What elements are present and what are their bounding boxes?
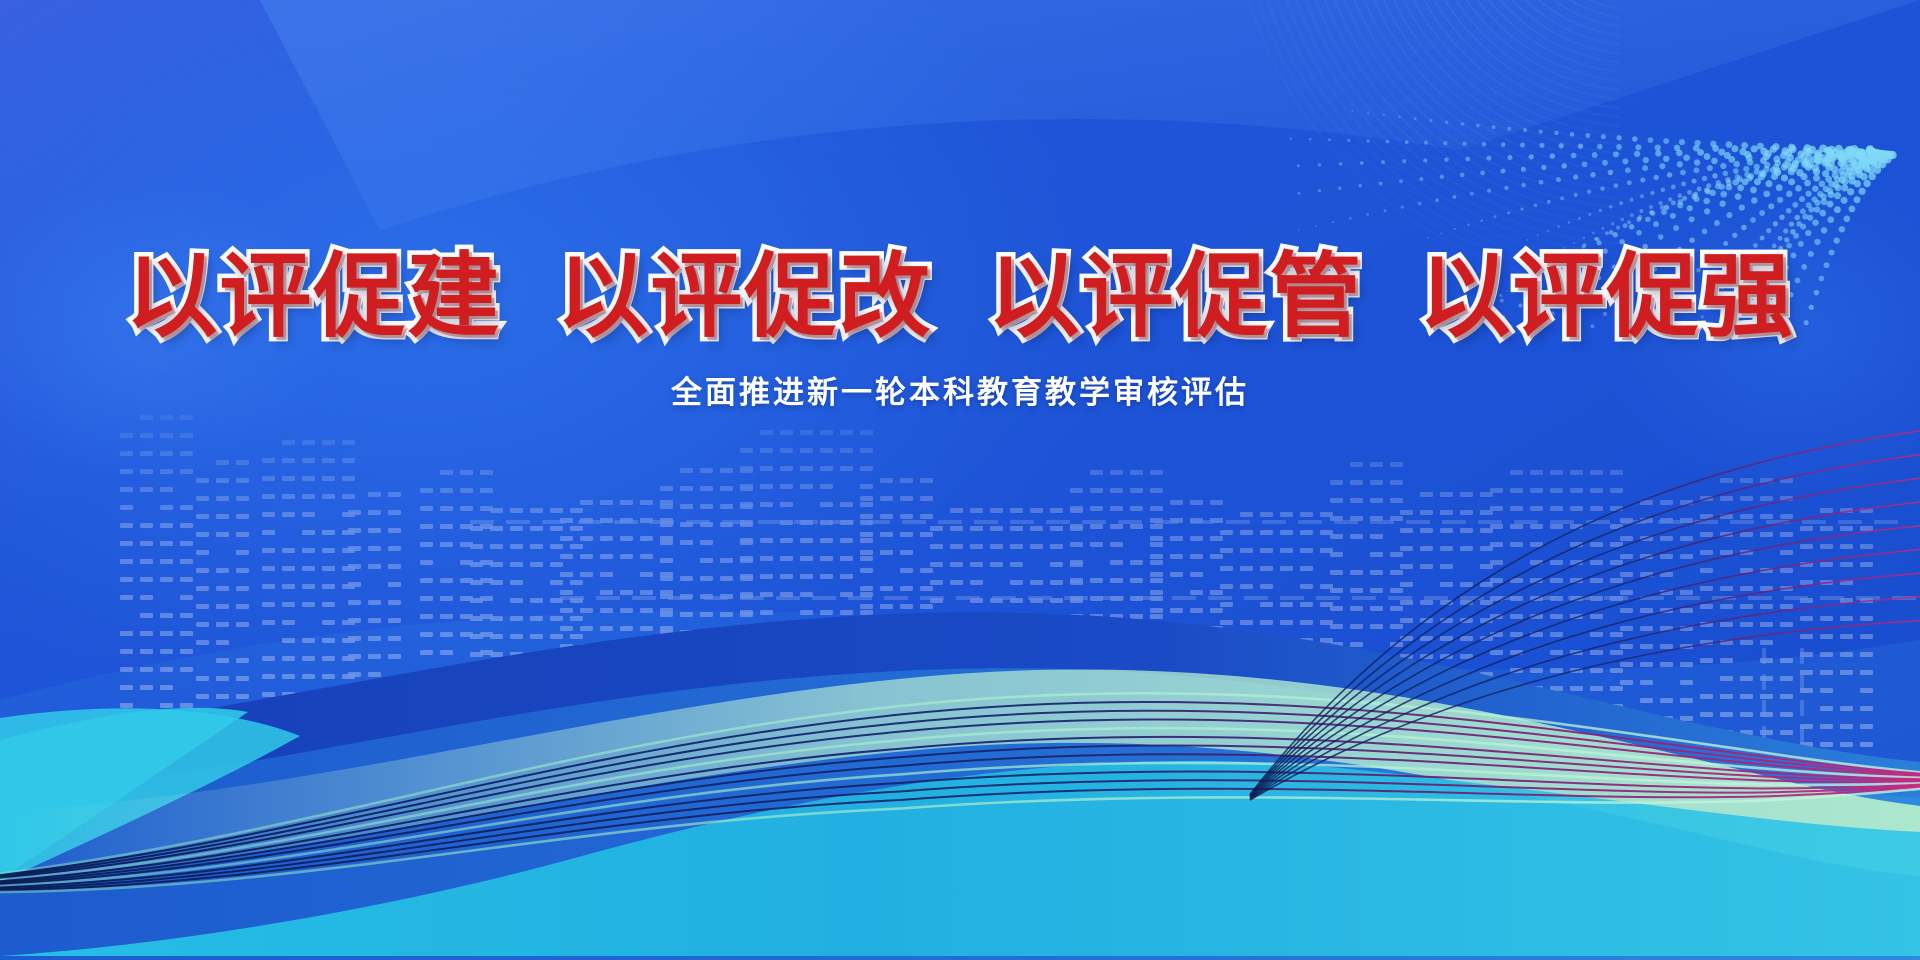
banner-root: 以评促建 以评促改 以评促管 以评促强 全面推进新一轮本科教育教学审核评估 <box>0 0 1920 960</box>
wave-ribbons-decoration <box>0 0 1920 960</box>
